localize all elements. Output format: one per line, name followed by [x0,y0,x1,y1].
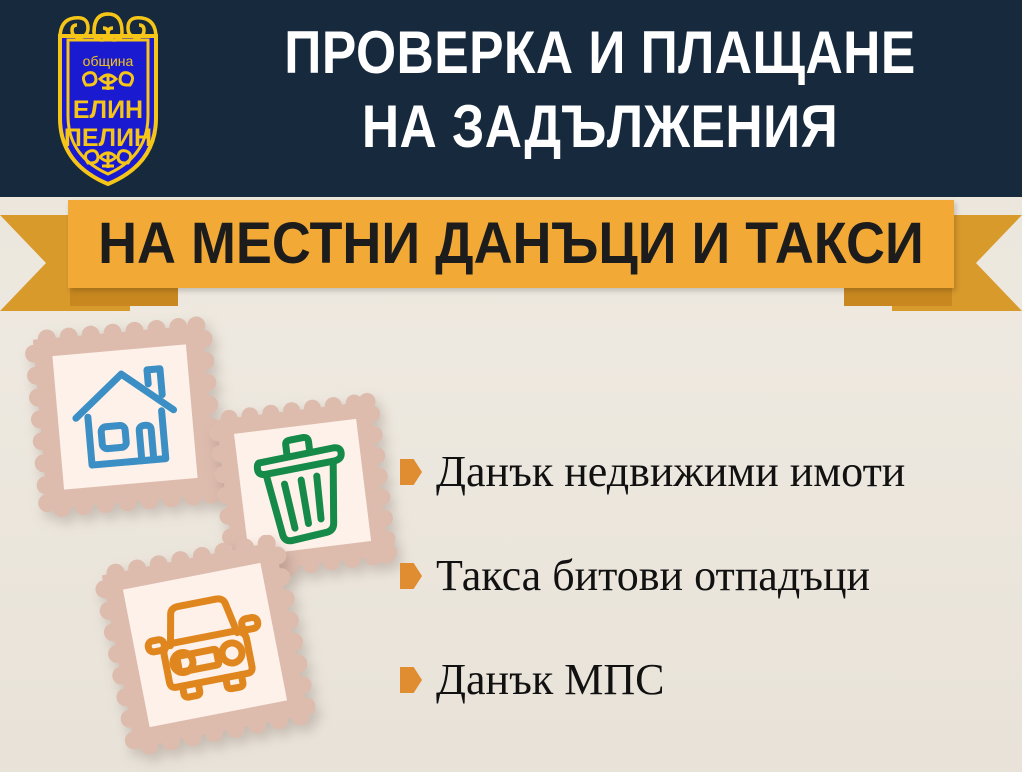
municipality-logo: община ЕЛИН ПЕЛИН [38,6,178,191]
bullet-arrow-icon [400,667,422,693]
ribbon-text: НА МЕСТНИ ДАНЪЦИ И ТАКСИ [98,215,924,273]
stamp-car [95,535,315,760]
poster-canvas: община ЕЛИН ПЕЛИН ПРОВЕРКА И ПЛАЩАНЕ [0,0,1022,772]
stamp-collage [0,290,420,772]
stamp-scalloped-border [95,535,315,755]
list-item-label: Такса битови отпадъци [436,551,870,601]
bullet-arrow-icon [400,563,422,589]
list-item-label: Данък недвижими имоти [436,447,905,497]
list-item: Такса битови отпадъци [400,524,1010,628]
ribbon-banner: НА МЕСТНИ ДАНЪЦИ И ТАКСИ [0,196,1022,316]
ribbon-main-panel: НА МЕСТНИ ДАНЪЦИ И ТАКСИ [68,200,954,288]
logo-name-line1: ЕЛИН [73,96,143,124]
title-line-2: НА ЗАДЪЛЖЕНИЯ [247,90,952,164]
logo-top-text: община [83,53,134,69]
title-line-1: ПРОВЕРКА И ПЛАЩАНЕ [247,16,952,90]
shield-crest-icon: община ЕЛИН ПЕЛИН [38,6,178,191]
list-item: Данък недвижими имоти [400,420,1010,524]
header-bar: община ЕЛИН ПЕЛИН ПРОВЕРКА И ПЛАЩАНЕ [0,0,1022,197]
list-item-label: Данък МПС [436,655,664,705]
tax-type-list: Данък недвижими имоти Такса битови отпад… [400,420,1010,732]
logo-name-line2: ПЕЛИН [64,124,152,152]
page-title: ПРОВЕРКА И ПЛАЩАНЕ НА ЗАДЪЛЖЕНИЯ [190,16,1010,164]
stamp-scalloped-border [23,315,227,519]
stamp-house [18,310,233,530]
bullet-arrow-icon [400,459,422,485]
list-item: Данък МПС [400,628,1010,732]
